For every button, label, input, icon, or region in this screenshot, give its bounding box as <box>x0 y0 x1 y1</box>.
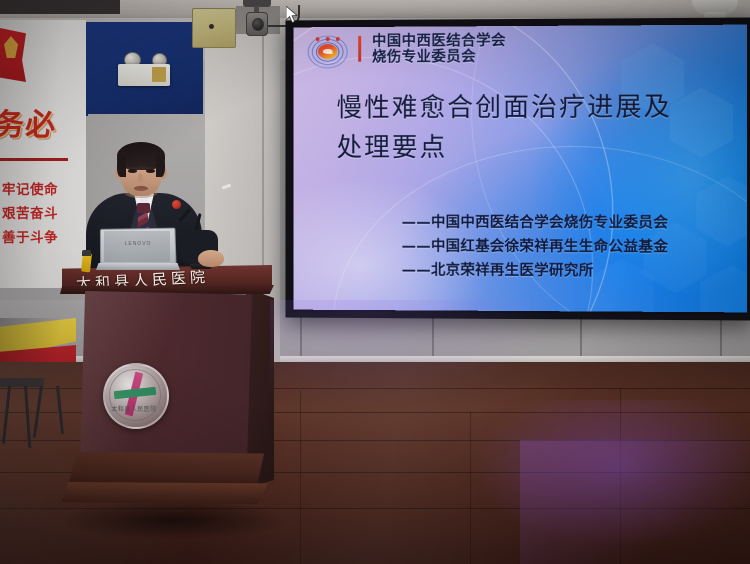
mouse-pointer-icon <box>286 6 299 24</box>
screenshot-scene: 中国中西医结合学会 烧伤专业委员会 慢性难愈合创面治疗进展及 处理要点 ——中国… <box>0 0 750 564</box>
vignette-overlay <box>0 0 750 564</box>
